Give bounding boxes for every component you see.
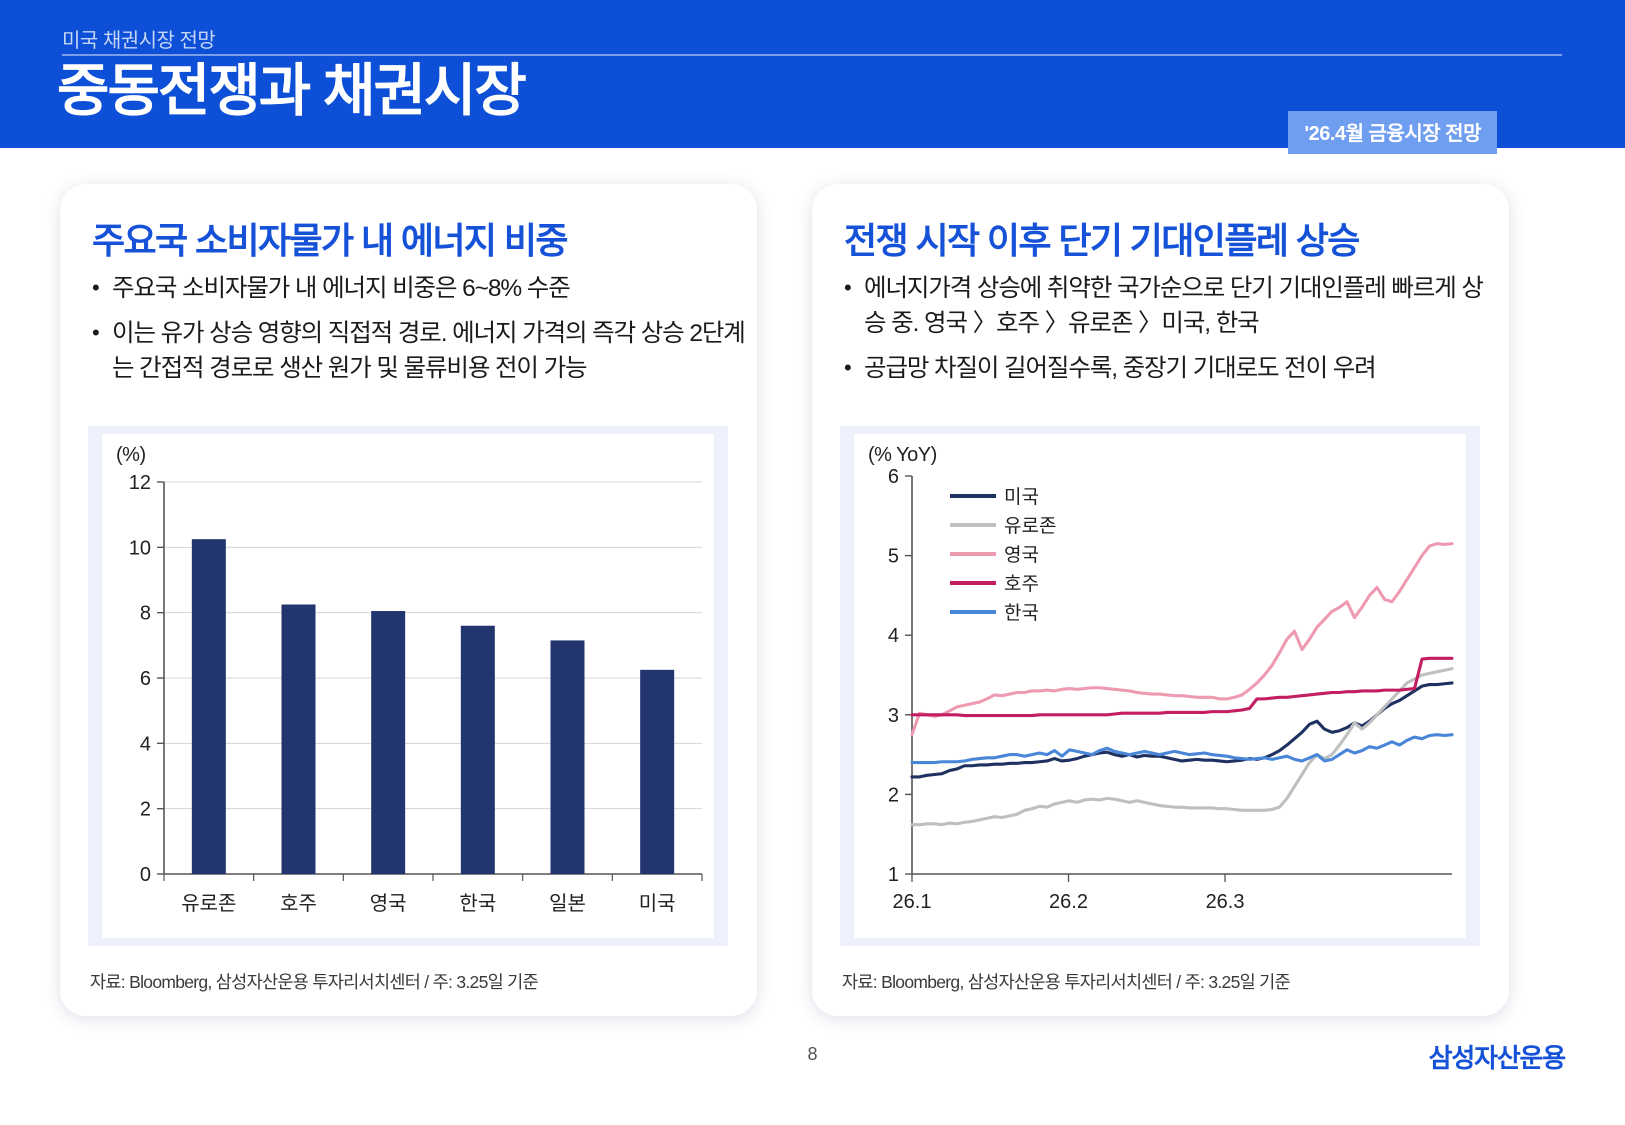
svg-text:26.3: 26.3 [1206,891,1245,913]
svg-text:한국: 한국 [459,892,496,915]
bar-chart: 024681012유로존호주영국한국일본미국 [102,434,714,938]
line-chart-frame: (% YoY) 12345626.126.226.3미국유로존영국호주한국 [840,426,1480,946]
svg-text:미국: 미국 [639,892,676,915]
svg-text:2: 2 [888,784,899,806]
svg-text:4: 4 [140,733,151,755]
svg-text:호주: 호주 [280,893,317,915]
page-title: 중동전쟁과 채권시장 [57,62,525,122]
line-chart-canvas: (% YoY) 12345626.126.226.3미국유로존영국호주한국 [854,434,1466,938]
svg-text:12: 12 [129,472,151,494]
list-item: 이는 유가 상승 영향의 직접적 경로. 에너지 가격의 즉각 상승 2단계는 … [86,317,746,387]
svg-text:26.2: 26.2 [1049,891,1088,913]
list-item: 공급망 차질이 길어질수록, 중장기 기대로도 전이 우려 [838,352,1498,387]
svg-text:3: 3 [888,705,899,727]
left-panel-source: 자료: Bloomberg, 삼성자산운용 투자리서치센터 / 주: 3.25일… [90,969,538,994]
bar-chart-frame: (%) 024681012유로존호주영국한국일본미국 [88,426,728,946]
header-divider [62,54,1562,56]
right-panel-bullets: 에너지가격 상승에 취약한 국가순으로 단기 기대인플레 빠르게 상승 중. 영… [838,272,1498,396]
status-badge: '26.4월 금융시장 전망 [1288,111,1497,154]
left-panel-bullets: 주요국 소비자물가 내 에너지 비중은 6~8% 수준 이는 유가 상승 영향의… [86,272,746,396]
right-panel: 전쟁 시작 이후 단기 기대인플레 상승 에너지가격 상승에 취약한 국가순으로… [812,184,1509,1016]
left-panel-title: 주요국 소비자물가 내 에너지 비중 [92,212,567,264]
svg-text:호주: 호주 [1004,574,1039,595]
svg-text:4: 4 [888,625,899,647]
list-item: 주요국 소비자물가 내 에너지 비중은 6~8% 수준 [86,272,746,307]
svg-text:일본: 일본 [549,892,586,915]
svg-text:영국: 영국 [370,892,407,915]
svg-text:미국: 미국 [1004,486,1039,508]
brand-logo: 삼성자산운용 [1429,1038,1565,1075]
line-chart: 12345626.126.226.3미국유로존영국호주한국 [854,434,1466,938]
right-panel-title: 전쟁 시작 이후 단기 기대인플레 상승 [844,212,1359,264]
svg-text:1: 1 [888,864,899,886]
svg-text:10: 10 [129,537,151,559]
bar-chart-unit-label: (%) [116,444,146,467]
page-number: 8 [0,1044,1625,1065]
svg-text:2: 2 [140,799,151,821]
svg-text:6: 6 [140,668,151,690]
header-eyebrow: 미국 채권시장 전망 [62,24,215,53]
bar-chart-canvas: (%) 024681012유로존호주영국한국일본미국 [102,434,714,938]
svg-text:유로존: 유로존 [181,893,236,915]
right-panel-source: 자료: Bloomberg, 삼성자산운용 투자리서치센터 / 주: 3.25일… [842,969,1290,994]
svg-text:5: 5 [888,546,899,568]
left-panel: 주요국 소비자물가 내 에너지 비중 주요국 소비자물가 내 에너지 비중은 6… [60,184,757,1016]
svg-text:6: 6 [888,466,899,488]
svg-text:유로존: 유로존 [1004,516,1056,537]
svg-text:0: 0 [140,864,151,886]
line-chart-unit-label: (% YoY) [868,444,937,467]
svg-text:한국: 한국 [1004,602,1039,624]
svg-text:26.1: 26.1 [893,891,932,913]
svg-text:8: 8 [140,603,151,625]
svg-text:영국: 영국 [1004,544,1039,566]
list-item: 에너지가격 상승에 취약한 국가순으로 단기 기대인플레 빠르게 상승 중. 영… [838,272,1498,342]
